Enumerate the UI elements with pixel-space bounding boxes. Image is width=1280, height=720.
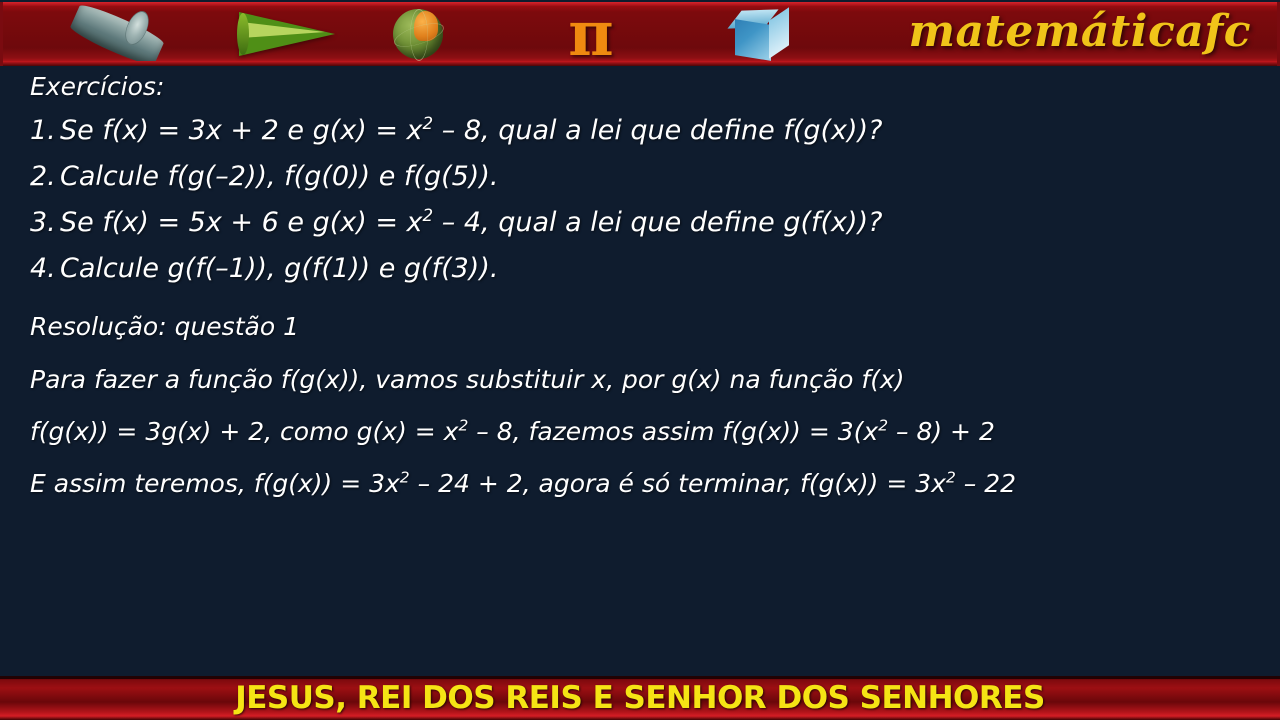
sphere-icon xyxy=(391,8,447,60)
cone-base xyxy=(237,13,249,55)
cone-icon xyxy=(235,8,345,60)
cone-highlight xyxy=(241,22,325,38)
pi-icon: π xyxy=(551,8,631,64)
cylinder-icon xyxy=(63,8,171,60)
exercise-number-1: 1. xyxy=(30,108,60,154)
slide-canvas: π matemáticafc Exercícios: 1.Se f(x) = 3… xyxy=(0,0,1280,720)
footer-text: JESUS, REI DOS REIS E SENHOR DOS SENHORE… xyxy=(0,678,1280,720)
brand-logo-text: matemáticafc xyxy=(908,2,1251,64)
exercise-item-2: 2.Calcule f(g(–2)), f(g(0)) e f(g(5)). xyxy=(30,154,1260,200)
resolution-step-2-part-c: – 8) + 2 xyxy=(888,417,995,446)
resolution-step-1-part-a: Para fazer a função f(g(x)), vamos subst… xyxy=(30,365,905,394)
exercise-sup-3: 2 xyxy=(423,205,434,225)
resolution-step-3: E assim teremos, f(g(x)) = 3x2 – 24 + 2,… xyxy=(30,458,1260,510)
resolution-step-2: f(g(x)) = 3g(x) + 2, como g(x) = x2 – 8,… xyxy=(30,406,1260,458)
header-banner: π matemáticafc xyxy=(0,2,1280,66)
exercise-text-1a: Se f(x) = 3x + 2 e g(x) = x xyxy=(60,115,423,146)
exercise-text-2a: Calcule f(g(–2)), f(g(0)) e f(g(5)). xyxy=(60,161,498,192)
exercise-item-1: 1.Se f(x) = 3x + 2 e g(x) = x2 – 8, qual… xyxy=(30,108,1260,154)
exercise-number-2: 2. xyxy=(30,154,60,200)
exercises-heading: Exercícios: xyxy=(30,70,1260,104)
exercise-text-3b: – 4, qual a lei que define g(f(x))? xyxy=(433,207,882,238)
resolution-step-3-sup-2: 2 xyxy=(946,469,956,487)
exercise-text-1b: – 8, qual a lei que define f(g(x))? xyxy=(433,115,882,146)
resolution-step-2-part-a: f(g(x)) = 3g(x) + 2, como g(x) = x xyxy=(30,417,458,446)
exercise-item-3: 3.Se f(x) = 5x + 6 e g(x) = x2 – 4, qual… xyxy=(30,200,1260,246)
resolution-step-3-part-a: E assim teremos, f(g(x)) = 3x xyxy=(30,469,400,498)
exercise-number-4: 4. xyxy=(30,246,60,292)
exercise-sup-1: 2 xyxy=(423,113,434,133)
resolution-step-3-part-b: – 24 + 2, agora é só terminar, f(g(x)) =… xyxy=(410,469,946,498)
resolution-step-2-sup-1: 2 xyxy=(458,417,468,435)
resolution-step-3-sup-1: 2 xyxy=(400,469,410,487)
exercise-item-4: 4.Calcule g(f(–1)), g(f(1)) e g(f(3)). xyxy=(30,246,1260,292)
resolution-step-1: Para fazer a função f(g(x)), vamos subst… xyxy=(30,354,1260,406)
resolution-step-2-part-b: – 8, fazemos assim f(g(x)) = 3(x xyxy=(468,417,878,446)
resolution-step-3-part-c: – 22 xyxy=(956,469,1016,498)
resolution-heading: Resolução: questão 1 xyxy=(30,310,1260,344)
exercise-text-3a: Se f(x) = 5x + 6 e g(x) = x xyxy=(60,207,423,238)
cube-front-face xyxy=(735,19,771,61)
cube-icon xyxy=(731,8,797,62)
footer-banner: JESUS, REI DOS REIS E SENHOR DOS SENHORE… xyxy=(0,676,1280,720)
cylinder-body xyxy=(68,2,166,66)
exercise-text-4a: Calcule g(f(–1)), g(f(1)) e g(f(3)). xyxy=(60,253,498,284)
exercise-number-3: 3. xyxy=(30,200,60,246)
resolution-step-2-sup-2: 2 xyxy=(878,417,888,435)
slide-content: Exercícios: 1.Se f(x) = 3x + 2 e g(x) = … xyxy=(30,70,1260,510)
